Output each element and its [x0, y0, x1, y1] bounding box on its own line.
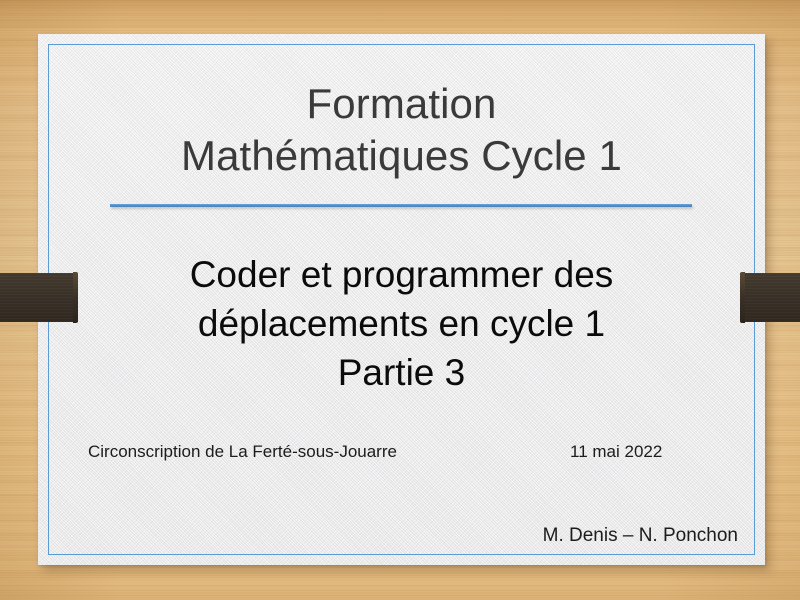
- slide-content: Formation Mathématiques Cycle 1 Coder et…: [0, 0, 800, 600]
- footer-date: 11 mai 2022: [570, 442, 662, 462]
- slide-subtitle-line-2: déplacements en cycle 1: [48, 299, 755, 348]
- title-divider-line: [110, 204, 692, 207]
- slide-title: Formation Mathématiques Cycle 1: [48, 78, 755, 182]
- slide-title-line-2: Mathématiques Cycle 1: [48, 130, 755, 182]
- slide-title-line-1: Formation: [48, 78, 755, 130]
- slide-subtitle: Coder et programmer des déplacements en …: [48, 250, 755, 397]
- decorative-ribbon-left: [0, 273, 78, 322]
- decorative-ribbon-right: [740, 273, 800, 322]
- slide-subtitle-line-3: Partie 3: [48, 348, 755, 397]
- presentation-slide: Formation Mathématiques Cycle 1 Coder et…: [0, 0, 800, 600]
- footer-authors: M. Denis – N. Ponchon: [543, 525, 738, 547]
- slide-subtitle-line-1: Coder et programmer des: [48, 250, 755, 299]
- footer-organization: Circonscription de La Ferté-sous-Jouarre: [88, 442, 397, 462]
